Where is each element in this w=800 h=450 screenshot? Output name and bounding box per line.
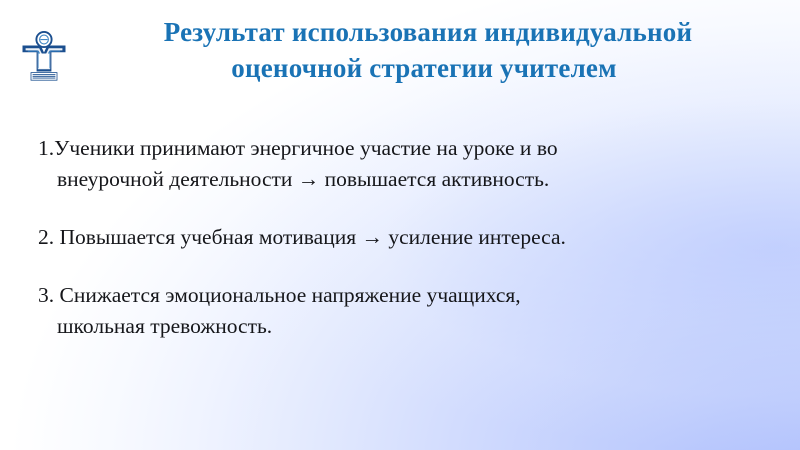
- list-item-line-1: 1.Ученики принимают энергичное участие н…: [38, 133, 758, 164]
- list-item: 2. Повышается учебная мотивация → усилен…: [38, 222, 758, 253]
- bullet-list: 1.Ученики принимают энергичное участие н…: [38, 133, 758, 342]
- presentation-slide: Результат использования индивидуальной о…: [0, 0, 800, 450]
- list-item-line-1: 3. Снижается эмоциональное напряжение уч…: [38, 280, 758, 311]
- slide-header: Результат использования индивидуальной о…: [0, 14, 800, 96]
- university-emblem-logo: [20, 30, 68, 82]
- title-line-2: оценочной стратегии учителем: [70, 50, 778, 86]
- title-line-1: Результат использования индивидуальной: [78, 14, 778, 50]
- slide-content: Результат использования индивидуальной о…: [0, 0, 800, 450]
- slide-title: Результат использования индивидуальной о…: [78, 14, 778, 86]
- list-item: 1.Ученики принимают энергичное участие н…: [38, 133, 758, 195]
- list-item-line-2: внеурочной деятельности → повышается акт…: [38, 164, 758, 195]
- list-item: 3. Снижается эмоциональное напряжение уч…: [38, 280, 758, 342]
- list-item-line-2: школьная тревожность.: [38, 311, 758, 342]
- list-item-line-1: 2. Повышается учебная мотивация → усилен…: [38, 222, 758, 253]
